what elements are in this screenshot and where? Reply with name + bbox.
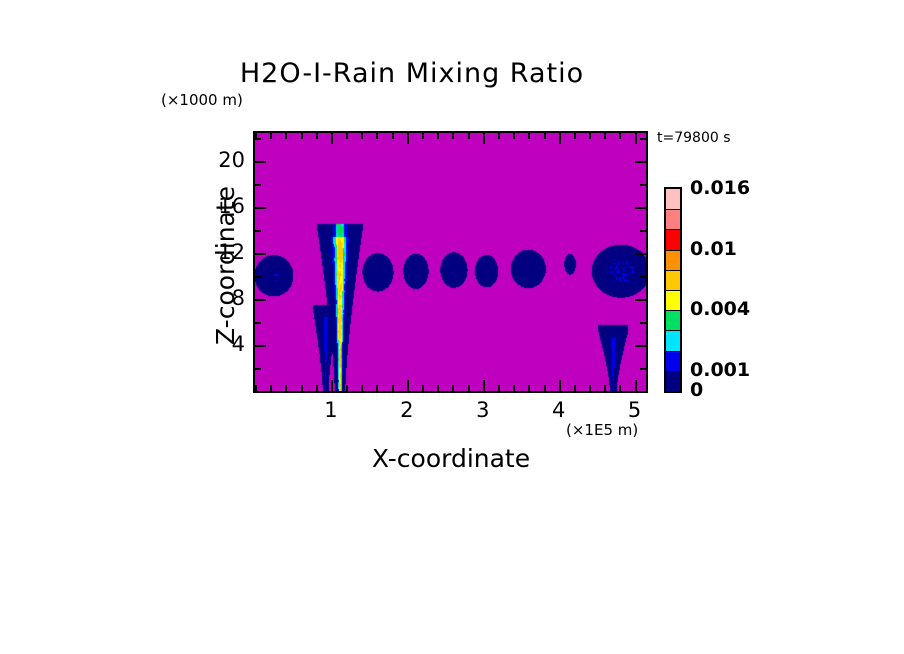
x-tick-label: 2	[387, 398, 427, 422]
tick-right	[640, 368, 646, 370]
y-tick-label: 4	[207, 332, 245, 356]
tick-bottom	[422, 385, 424, 391]
timestamp-annotation: t=79800 s	[657, 130, 731, 146]
tick-right	[640, 184, 646, 186]
tick-top	[346, 133, 348, 139]
tick-bottom	[346, 385, 348, 391]
tick-right	[640, 276, 646, 278]
tick-right	[640, 230, 646, 232]
colorbar-band-divider	[666, 290, 680, 291]
colorbar-band-divider	[666, 229, 680, 230]
colorbar-band	[666, 270, 680, 290]
tick-right	[640, 322, 646, 324]
tick-right	[640, 391, 646, 393]
colorbar-band-divider	[666, 209, 680, 210]
x-tick-label: 4	[539, 398, 579, 422]
tick-bottom	[604, 385, 606, 391]
tick-left	[255, 161, 266, 163]
tick-left	[255, 299, 266, 301]
x-tick-label: 5	[615, 398, 655, 422]
colorbar-tick-label: 0.004	[690, 298, 750, 320]
x-tick-label: 3	[463, 398, 503, 422]
tick-top	[270, 133, 272, 139]
tick-bottom	[285, 385, 287, 391]
tick-left	[255, 138, 261, 140]
tick-top	[376, 133, 378, 139]
tick-top	[301, 133, 303, 139]
tick-bottom	[574, 385, 576, 391]
tick-bottom	[589, 385, 591, 391]
colorbar-band	[666, 250, 680, 270]
tick-top	[361, 133, 363, 139]
tick-top	[635, 133, 637, 144]
tick-top	[604, 133, 606, 139]
tick-bottom	[331, 380, 333, 391]
tick-top	[619, 133, 621, 139]
tick-right	[635, 161, 646, 163]
tick-left	[255, 230, 261, 232]
tick-bottom	[270, 385, 272, 391]
y-tick-label: 12	[207, 240, 245, 264]
tick-right	[635, 299, 646, 301]
colorbar-band	[666, 310, 680, 330]
tick-left	[255, 322, 261, 324]
tick-left	[255, 391, 261, 393]
colorbar-band	[666, 290, 680, 310]
page-title: H2O-I-Rain Mixing Ratio	[0, 58, 904, 89]
tick-top	[589, 133, 591, 139]
tick-top	[452, 133, 454, 139]
x-tick-label: 1	[311, 398, 351, 422]
colorbar-band-divider	[666, 250, 680, 251]
tick-bottom	[559, 380, 561, 391]
tick-left	[255, 253, 266, 255]
y-tick-label: 20	[207, 148, 245, 172]
colorbar-band	[666, 351, 680, 371]
tick-bottom	[452, 385, 454, 391]
colorbar-band-divider	[666, 351, 680, 352]
tick-bottom	[483, 380, 485, 391]
colorbar-tick-label: 0	[690, 379, 703, 401]
heatmap-field	[255, 133, 646, 391]
colorbar-tick-label: 0.01	[690, 238, 737, 260]
tick-top	[528, 133, 530, 139]
tick-bottom	[407, 380, 409, 391]
tick-left	[255, 184, 261, 186]
tick-bottom	[301, 385, 303, 391]
tick-top	[468, 133, 470, 139]
colorbar-band	[666, 209, 680, 229]
colorbar	[664, 187, 682, 393]
page-title-text: H2O-I-Rain Mixing Ratio	[240, 58, 584, 89]
tick-bottom	[513, 385, 515, 391]
tick-top	[392, 133, 394, 139]
colorbar-band	[666, 229, 680, 249]
tick-bottom	[468, 385, 470, 391]
colorbar-band-divider	[666, 270, 680, 271]
tick-left	[255, 345, 266, 347]
tick-right	[635, 345, 646, 347]
y-axis-unit-label: (×1000 m)	[161, 91, 243, 109]
colorbar-tick-label: 0.016	[690, 177, 750, 199]
y-tick-label: 16	[207, 194, 245, 218]
tick-left	[255, 368, 261, 370]
tick-top	[498, 133, 500, 139]
tick-top	[316, 133, 318, 139]
tick-top	[513, 133, 515, 139]
tick-top	[574, 133, 576, 139]
tick-top	[437, 133, 439, 139]
tick-right	[640, 138, 646, 140]
heatmap-plot-area	[253, 131, 648, 393]
colorbar-tick-label: 0.001	[690, 359, 750, 381]
tick-left	[255, 276, 261, 278]
tick-bottom	[544, 385, 546, 391]
tick-top	[559, 133, 561, 144]
tick-bottom	[437, 385, 439, 391]
tick-top	[331, 133, 333, 144]
tick-bottom	[528, 385, 530, 391]
x-axis-title: X-coordinate	[253, 444, 649, 473]
tick-bottom	[361, 385, 363, 391]
tick-top	[422, 133, 424, 139]
tick-bottom	[498, 385, 500, 391]
colorbar-band-divider	[666, 371, 680, 372]
tick-bottom	[392, 385, 394, 391]
colorbar-band	[666, 189, 680, 209]
tick-right	[635, 253, 646, 255]
tick-top	[544, 133, 546, 139]
tick-left	[255, 207, 266, 209]
tick-top	[407, 133, 409, 144]
tick-top	[483, 133, 485, 144]
tick-right	[635, 207, 646, 209]
tick-bottom	[635, 380, 637, 391]
colorbar-band-divider	[666, 310, 680, 311]
tick-bottom	[619, 385, 621, 391]
tick-top	[285, 133, 287, 139]
colorbar-band	[666, 371, 680, 391]
colorbar-band	[666, 330, 680, 350]
tick-bottom	[316, 385, 318, 391]
y-tick-label: 8	[207, 286, 245, 310]
colorbar-band-divider	[666, 330, 680, 331]
x-axis-unit-label: (×1E5 m)	[566, 421, 638, 439]
tick-bottom	[376, 385, 378, 391]
